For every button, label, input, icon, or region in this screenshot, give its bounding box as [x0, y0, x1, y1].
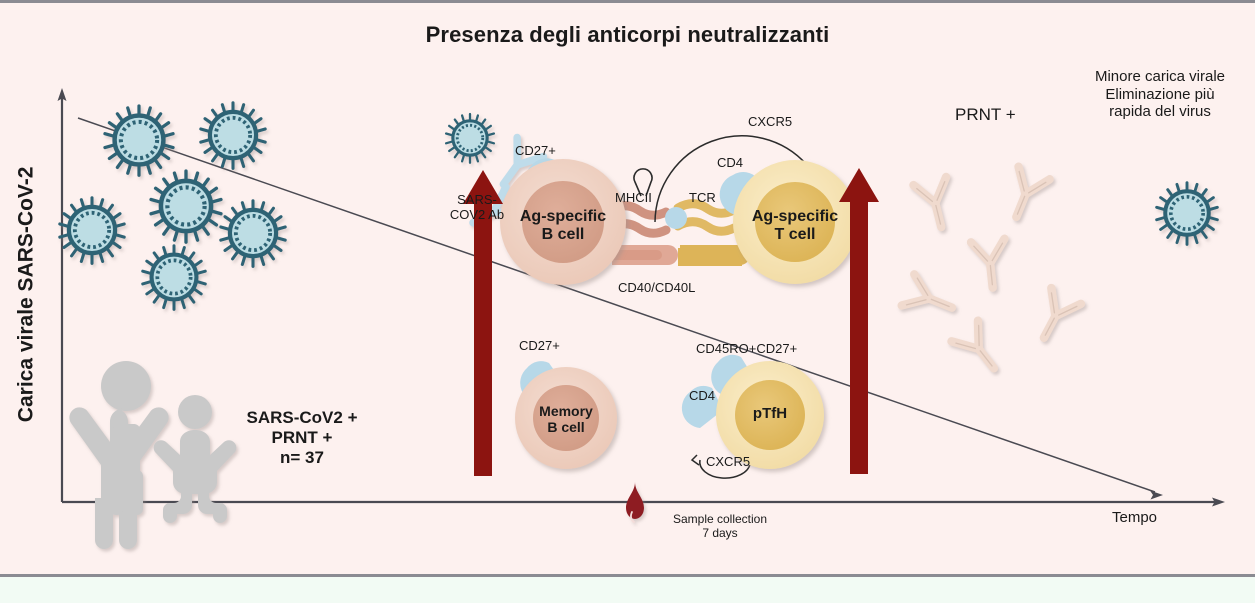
bottom-strip: [0, 577, 1255, 603]
label-cd40-cd40l: CD40/CD40L: [618, 280, 695, 295]
label-cd27-memory: CD27+: [519, 338, 560, 353]
label-ag-specific-b-cell: Ag-specific B cell: [503, 208, 623, 244]
label-cd27-b-cell: CD27+: [515, 143, 556, 158]
antibody-cloud: [902, 167, 1081, 379]
virus-cluster: [60, 103, 285, 310]
label-ptfh-cell: pTfH: [720, 406, 820, 423]
x-axis-label: Tempo: [1112, 509, 1157, 527]
diagram-graphics: [0, 0, 1255, 603]
label-ag-specific-t-cell: Ag-specific T cell: [735, 208, 855, 244]
label-cd4-ptfh: CD4: [689, 388, 715, 403]
blood-drop-icon: [626, 482, 644, 522]
sample-collection-label: Sample collection 7 days: [655, 512, 785, 540]
label-cxcr5-t-cell: CXCR5: [748, 114, 792, 129]
page-title: Presenza degli anticorpi neutralizzanti: [0, 22, 1255, 48]
virus-single-right: [1157, 183, 1218, 245]
label-mhcii: MHCII: [615, 190, 652, 205]
peptide-icon: [665, 207, 687, 229]
label-tcr: TCR: [689, 190, 716, 205]
cohort-annotation: SARS-CoV2 + PRNT + n= 37: [232, 408, 372, 468]
y-axis-label: Carica virale SARS-CoV-2: [15, 94, 40, 494]
label-cxcr5-ptfh: CXCR5: [706, 454, 750, 469]
figure-canvas: Presenza degli anticorpi neutralizzanti …: [0, 0, 1255, 603]
label-cd45ro-cd27: CD45RO+CD27+: [696, 341, 797, 356]
label-cd4-t-cell: CD4: [717, 155, 743, 170]
prnt-positive-label: PRNT +: [955, 105, 1016, 125]
outcome-summary-label: Minore carica virale Eliminazione più ra…: [1070, 68, 1250, 121]
label-memory-b-cell: Memory B cell: [511, 404, 621, 435]
adult-and-child-icon: [69, 361, 236, 549]
